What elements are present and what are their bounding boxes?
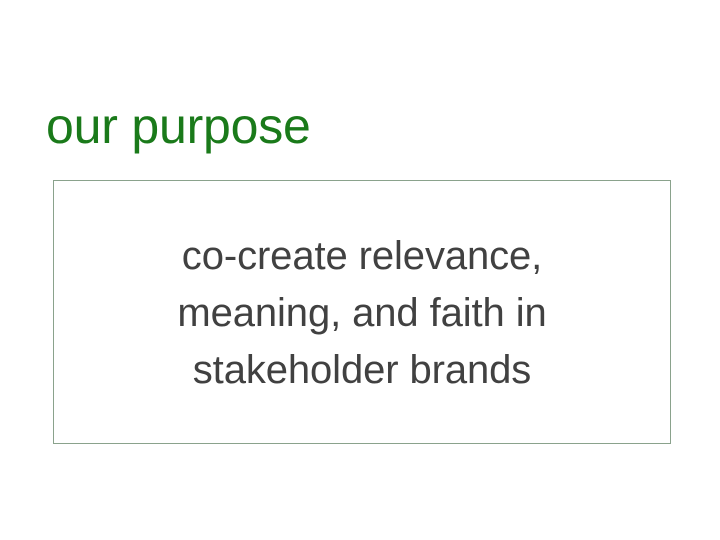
page-title: our purpose <box>46 96 666 156</box>
body-text-block: co-create relevance, meaning, and faith … <box>54 228 670 399</box>
content-box: co-create relevance, meaning, and faith … <box>53 180 671 444</box>
body-text-line-1: co-create relevance, <box>54 228 670 285</box>
slide-canvas: our purpose co-create relevance, meaning… <box>0 0 720 540</box>
body-text-line-2: meaning, and faith in <box>54 285 670 342</box>
body-text-line-3: stakeholder brands <box>54 342 670 399</box>
